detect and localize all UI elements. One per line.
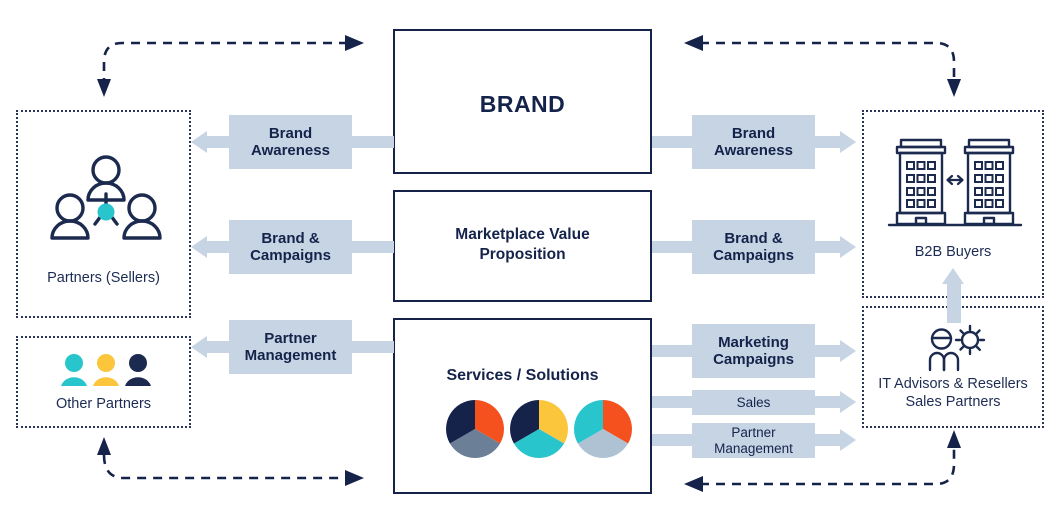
left-flow-3-shaft-out [207,341,229,353]
two-buildings-icon [885,132,1025,238]
b2b-buyers-label: B2B Buyers [864,244,1042,261]
right-flow-3-line1: Marketing [718,334,789,351]
loop-partners-to-services [104,455,348,478]
left-flow-2-line2: Campaigns [250,247,331,264]
left-flow-2-ribbon: Brand & Campaigns [229,220,352,274]
services-pie-1 [444,398,506,460]
arrowhead-right-bottom-left [345,470,364,486]
right-flow-5-shaft-in [652,434,692,446]
value-proposition-title: Marketplace Value Proposition [395,225,650,265]
right-flow-5-shaft-out [815,434,840,446]
partners-sellers-zone: Partners (Sellers) [16,110,191,318]
left-flow-3-ribbon: Partner Management [229,320,352,374]
advisor-gear-icon [922,322,988,374]
left-flow-1-shaft-in [352,136,394,148]
right-flow-4-arrowhead [840,391,856,413]
left-flow-1-arrowhead [191,131,207,153]
right-flow-5-line1: Partner [731,425,775,440]
left-flow-1-shaft-out [207,136,229,148]
advisors-to-buyers-shaft [947,283,961,323]
arrowhead-left-top-right [684,35,703,51]
it-advisors-label-line2: Sales Partners [864,394,1042,411]
right-flow-2-line2: Campaigns [713,247,794,264]
arrowhead-down-left [97,79,111,97]
partners-sellers-label: Partners (Sellers) [18,270,189,287]
services-solutions-box: Services / Solutions [393,318,652,494]
diagram-canvas: Partners (Sellers) Other Partners [0,0,1060,521]
left-flow-3-line1: Partner [264,330,317,347]
left-flow-3-shaft-in [352,341,394,353]
right-flow-1-line1: Brand [732,125,775,142]
other-partners-zone: Other Partners [16,336,191,428]
right-flow-4-shaft-in [652,396,692,408]
other-partners-label: Other Partners [18,396,189,413]
loop-buyers-to-brand [700,43,954,80]
right-flow-5-line2: Management [714,441,793,456]
right-flow-2-shaft-in [652,241,692,253]
right-flow-1-line2: Awareness [714,142,793,159]
right-flow-5-arrowhead [840,429,856,451]
right-flow-2-shaft-out [815,241,840,253]
left-flow-1-line2: Awareness [251,142,330,159]
left-flow-2-arrowhead [191,236,207,258]
services-pie-2 [508,398,570,460]
right-flow-1-shaft-in [652,136,692,148]
left-flow-3-line2: Management [245,347,337,364]
arrowhead-left-bottom-right [684,476,703,492]
arrowhead-up-left [97,437,111,455]
left-flow-3-arrowhead [191,336,207,358]
advisors-to-buyers-arrowhead [942,268,964,284]
right-flow-3-shaft-out [815,345,840,357]
brand-title: BRAND [395,91,650,118]
right-flow-2-line1: Brand & [724,230,782,247]
three-people-icon [58,352,154,388]
arrowhead-up-right [947,430,961,448]
right-flow-3-ribbon: Marketing Campaigns [692,324,815,378]
right-flow-4-shaft-out [815,396,840,408]
services-solutions-title: Services / Solutions [395,367,650,385]
arrowhead-down-right [947,79,961,97]
left-flow-1-line1: Brand [269,125,312,142]
it-advisors-zone: IT Advisors & Resellers Sales Partners [862,306,1044,428]
right-flow-4-line1: Sales [737,395,771,410]
right-flow-3-line2: Campaigns [713,351,794,368]
right-flow-1-shaft-out [815,136,840,148]
right-flow-1-ribbon: Brand Awareness [692,115,815,169]
left-flow-2-line1: Brand & [261,230,319,247]
right-flow-5-ribbon: Partner Management [692,423,815,458]
right-flow-1-arrowhead [840,131,856,153]
left-flow-2-shaft-out [207,241,229,253]
people-network-icon [51,150,161,246]
arrowhead-right-top-left [345,35,364,51]
services-pie-3 [572,398,634,460]
right-flow-4-ribbon: Sales [692,390,815,415]
right-flow-2-ribbon: Brand & Campaigns [692,220,815,274]
loop-brand-to-partners [104,43,348,80]
it-advisors-label-line1: IT Advisors & Resellers [864,376,1042,393]
value-proposition-box: Marketplace Value Proposition [393,190,652,302]
right-flow-2-arrowhead [840,236,856,258]
left-flow-2-shaft-in [352,241,394,253]
right-flow-3-shaft-in [652,345,692,357]
brand-box: BRAND [393,29,652,174]
right-flow-3-arrowhead [840,340,856,362]
left-flow-1-ribbon: Brand Awareness [229,115,352,169]
